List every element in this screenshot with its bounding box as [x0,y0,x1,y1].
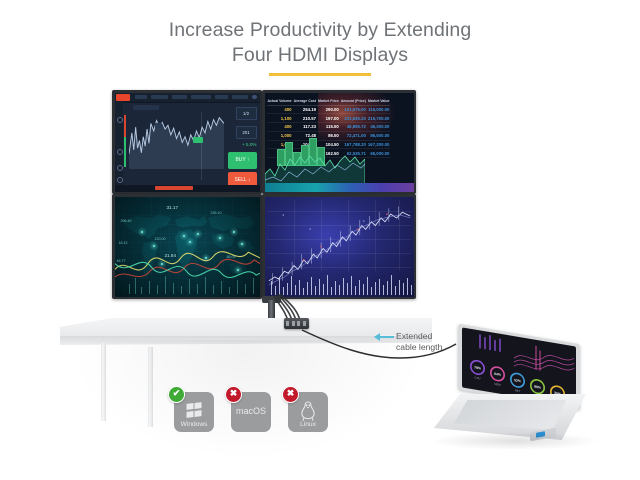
hub-port-2 [292,321,295,327]
cell-market-value: 86,500.00 [367,131,391,140]
rail-icon-chart[interactable] [117,117,123,123]
nav-pill-balance[interactable] [232,95,248,100]
qty-field[interactable]: 1/2 [236,107,257,120]
nav-pill-markets[interactable] [135,95,147,100]
cell-volume: 400 [267,123,293,132]
col-amount-price: Amount (Price) [340,98,367,106]
cell-amount: 167,788.20 [340,140,367,149]
order-entry-panel: 1/2 201 + 5.0% BUY ↑ SELL ↓ [226,104,260,184]
cell-volume: 1,100 [267,114,293,123]
laptop-shadow [430,432,600,450]
monitor-bottom-right: ● ● ● ● [262,194,416,299]
os-label-windows: Windows [174,421,214,428]
cell-market-value: 65,000.00 [367,149,391,158]
chart-marker [155,123,162,128]
os-tile-linux: ✖ Linux [288,392,328,432]
os-label-linux: Linux [288,421,328,428]
macos-wordmark-icon: macOS [231,406,271,416]
nav-pill-watch[interactable] [151,95,168,100]
rail-icon-news[interactable] [117,165,123,171]
cell-volume: 400 [267,105,293,114]
cell-market-price: 197.00 [317,114,340,123]
cell-market-price: 290.00 [317,105,340,114]
col-market-value: Market Value [367,98,391,106]
size-field[interactable]: 201 [236,126,257,139]
user-avatar[interactable] [252,95,257,100]
hub-port-1 [286,321,289,327]
cell-amount: 46,895.72 [340,123,367,132]
cell-market-value: 46,300.00 [367,123,391,132]
table-header-row: Actual Volume Average Cost Market Price … [267,98,391,106]
cell-market-value: 216,700.00 [367,114,391,123]
screen-world-map-dashboard: 31.17 296.40 120.00 21.84 18.12 46.77 23… [115,197,260,297]
alert-ticker [155,186,193,190]
cell-avg-cost: 254.19 [293,105,317,114]
os-tile-windows: ✔ Windows [174,392,214,432]
cell-amount: 72,471.00 [340,131,367,140]
depth-bar-sell [124,115,126,137]
cell-market-value: 167,200.00 [367,140,391,149]
windows-logo-icon [187,402,202,418]
brand-logo-icon [116,94,130,101]
change-value: + 5.0% [242,142,256,147]
terminal-left-rail [115,102,123,185]
rail-icon-orders[interactable] [117,149,123,155]
chart-price-tag [193,137,203,143]
overlay-area-chart [265,150,365,184]
screen-candlestick-chart: ● ● ● ● [265,197,414,297]
cell-market-value: 116,000.00 [367,105,391,114]
headline-line-2: Four HDMI Displays [0,43,640,68]
quad-monitor-array: 1/2 201 + 5.0% BUY ↑ SELL ↓ Actual Volum… [112,90,416,305]
cell-amount: 231,635.33 [340,114,367,123]
rail-icon-tools[interactable] [117,177,123,183]
table-row: 1,100 210.57 197.00 231,635.33 216,700.0… [267,114,391,123]
nav-pill-research[interactable] [172,95,187,100]
headline-line-1: Increase Productivity by Extending [169,19,472,41]
screen-trading-terminal: 1/2 201 + 5.0% BUY ↑ SELL ↓ [115,93,260,192]
laptop: 78% CPU 64% MEM 52% NET 88% DISK 35% [434,334,588,446]
nav-pill-lists[interactable] [191,95,211,100]
badge-supported-windows: ✔ [168,386,185,403]
col-market-price: Market Price [317,98,340,106]
price-chart [129,112,224,169]
table-row: 400 117.23 115.50 46,895.72 46,300.00 [267,123,391,132]
cell-amount: 101,675.00 [340,105,367,114]
cell-avg-cost: 210.57 [293,114,317,123]
cell-market-price: 115.50 [317,123,340,132]
depth-bar-buy [124,137,126,167]
linux-penguin-icon [300,400,317,421]
monitor-top-left: 1/2 201 + 5.0% BUY ↑ SELL ↓ [112,90,262,194]
table-row: 400 254.19 290.00 101,675.00 116,000.00 [267,105,391,114]
page-title: Increase Productivity by Extending Four … [0,18,640,68]
chart-crosshair [201,112,202,180]
monitor-bottom-left: 31.17 296.40 120.00 21.84 18.12 46.77 23… [112,194,262,299]
account-selector[interactable] [133,105,159,110]
map-wave-series [115,197,260,297]
monitor-top-right: Actual Volume Average Cost Market Price … [262,90,416,194]
screen-portfolio-table: Actual Volume Average Cost Market Price … [265,93,414,192]
product-marketing-image: Increase Productivity by Extending Four … [0,0,640,480]
cell-avg-cost: 117.23 [293,123,317,132]
col-actual-volume: Actual Volume [267,98,293,106]
buy-button[interactable]: BUY ↑ [228,152,257,169]
nav-pill-alerts[interactable] [215,95,228,100]
badge-unsupported-linux: ✖ [282,386,299,403]
title-underline-accent [269,73,371,76]
annotation-arrow-line [377,336,394,338]
col-average-cost: Average Cost [293,98,317,106]
spectrum-strip [265,183,414,192]
os-tile-macos: ✖ macOS [231,392,271,432]
badge-unsupported-macos: ✖ [225,386,242,403]
